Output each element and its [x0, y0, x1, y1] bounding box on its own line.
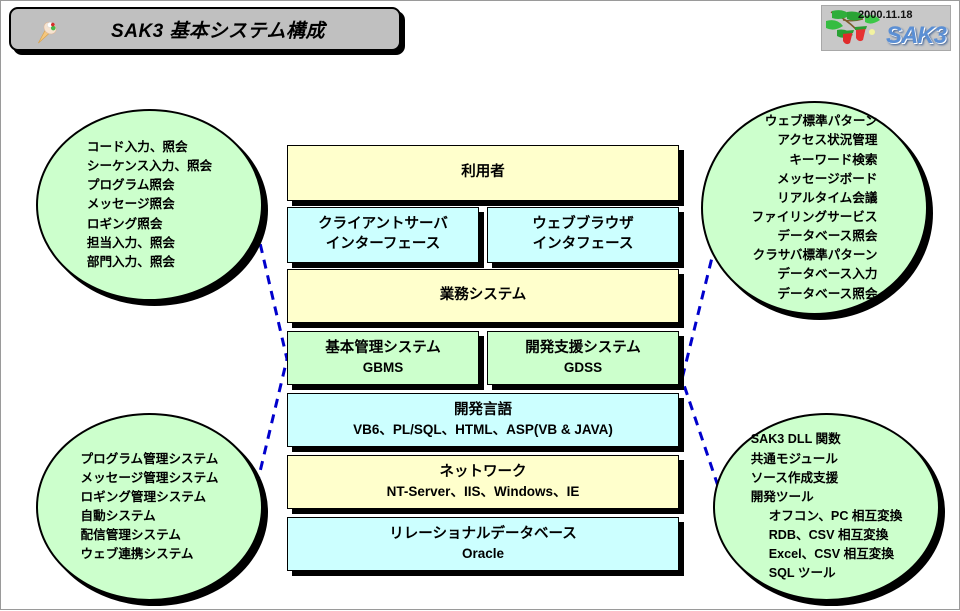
page-title-plate: SAK3 基本システム構成 [9, 7, 401, 51]
logo-date: 2000.11.18 [858, 9, 912, 21]
list-item: シーケンス入力、照会 [87, 157, 212, 176]
list-item: 配信管理システム [81, 526, 219, 545]
stack-box-web-browser-interface-line2: インタフェース [533, 235, 634, 255]
list-item: メッセージ管理システム [81, 469, 219, 488]
stack-box-web-browser-interface[interactable]: ウェブブラウザ インタフェース [487, 207, 679, 263]
bubble-web-functions-list: ウェブ標準パターン アクセス状況管理 キーワード検索 メッセージボード リアルタ… [752, 112, 878, 303]
list-item: ウェブ連携システム [81, 545, 219, 564]
stack-box-users[interactable]: 利用者 [287, 145, 679, 201]
stack-box-business-system-line1: 業務システム [440, 286, 527, 306]
list-item: 部門入力、照会 [87, 253, 212, 272]
stack-box-gbms-line1: 基本管理システム [325, 339, 441, 359]
list-item: SAK3 DLL 関数 [751, 430, 903, 449]
stack-box-client-server-interface[interactable]: クライアントサーバ インターフェース [287, 207, 479, 263]
list-item: データベース入力 [752, 265, 878, 284]
stack-box-relational-database[interactable]: リレーショナルデータベース Oracle [287, 517, 679, 571]
list-item: メッセージ照会 [87, 195, 212, 214]
list-item: RDB、CSV 相互変換 [751, 526, 903, 545]
sak3-logo: 2000.11.18 SAK3 [821, 5, 951, 51]
stack-box-development-language[interactable]: 開発言語 VB6、PL/SQL、HTML、ASP(VB & JAVA) [287, 393, 679, 447]
list-item: ロギング管理システム [81, 488, 219, 507]
diagram-canvas: SAK3 基本システム構成 2000.11.18 SAK3 利用者 [0, 0, 960, 610]
stack-box-network-line1: ネットワーク [440, 463, 527, 483]
stack-box-development-language-line2: VB6、PL/SQL、HTML、ASP(VB & JAVA) [353, 421, 613, 439]
list-item: Excel、CSV 相互変換 [751, 545, 903, 564]
list-item: コード入力、照会 [87, 138, 212, 157]
bubble-management-subsystems-list: プログラム管理システム メッセージ管理システム ロギング管理システム 自動システ… [81, 450, 219, 565]
list-item: リアルタイム会議 [752, 189, 878, 208]
list-item: クラサバ標準パターン [752, 246, 878, 265]
stack-box-gbms[interactable]: 基本管理システム GBMS [287, 331, 479, 385]
list-item: 自動システム [81, 507, 219, 526]
list-item: プログラム管理システム [81, 450, 219, 469]
stack-box-users-line1: 利用者 [461, 163, 505, 183]
stack-box-client-server-interface-line2: インターフェース [326, 235, 440, 255]
list-item: ファイリングサービス [752, 208, 878, 227]
list-item: 開発ツール [751, 488, 903, 507]
stack-box-client-server-interface-line1: クライアントサーバ [318, 215, 448, 235]
list-item: メッセージボード [752, 170, 878, 189]
list-item: ロギング照会 [87, 215, 212, 234]
stack-box-business-system[interactable]: 業務システム [287, 269, 679, 323]
bubble-development-support-tools-list: SAK3 DLL 関数 共通モジュール ソース作成支援 開発ツール オフコン、P… [751, 430, 903, 583]
stack-box-relational-database-line2: Oracle [462, 545, 504, 563]
bubble-management-subsystems[interactable]: プログラム管理システム メッセージ管理システム ロギング管理システム 自動システ… [36, 413, 263, 601]
stack-box-gdss[interactable]: 開発支援システム GDSS [487, 331, 679, 385]
stack-box-web-browser-interface-line1: ウェブブラウザ [532, 215, 634, 235]
list-item: プログラム照会 [87, 176, 212, 195]
list-item: オフコン、PC 相互変換 [751, 507, 903, 526]
stack-box-network[interactable]: ネットワーク NT-Server、IIS、Windows、IE [287, 455, 679, 509]
bubble-development-support-tools[interactable]: SAK3 DLL 関数 共通モジュール ソース作成支援 開発ツール オフコン、P… [713, 413, 940, 601]
list-item: データベース照会 [752, 285, 878, 304]
list-item: キーワード検索 [752, 151, 878, 170]
connector-top-left [253, 213, 287, 359]
stack-box-gdss-line1: 開発支援システム [525, 339, 641, 359]
list-item: 共通モジュール [751, 450, 903, 469]
page-title: SAK3 基本システム構成 [11, 16, 399, 43]
list-item: 担当入力、照会 [87, 234, 212, 253]
list-item: データベース照会 [752, 227, 878, 246]
list-item: ソース作成支援 [751, 469, 903, 488]
logo-brand-text: SAK3 [886, 22, 946, 50]
list-item: ウェブ標準パターン [752, 112, 878, 131]
bubble-web-functions[interactable]: ウェブ標準パターン アクセス状況管理 キーワード検索 メッセージボード リアルタ… [701, 101, 928, 315]
stack-box-relational-database-line1: リレーショナルデータベース [389, 525, 576, 545]
list-item: SQL ツール [751, 564, 903, 583]
stack-box-gbms-line2: GBMS [363, 359, 404, 377]
bubble-client-server-functions[interactable]: コード入力、照会 シーケンス入力、照会 プログラム照会 メッセージ照会 ロギング… [36, 109, 263, 301]
stack-box-network-line2: NT-Server、IIS、Windows、IE [387, 483, 580, 501]
list-item: アクセス状況管理 [752, 131, 878, 150]
bubble-client-server-functions-list: コード入力、照会 シーケンス入力、照会 プログラム照会 メッセージ照会 ロギング… [87, 138, 212, 272]
ice-cream-cone-icon [25, 15, 63, 47]
stack-box-gdss-line2: GDSS [564, 359, 602, 377]
stack-box-development-language-line1: 開発言語 [454, 401, 512, 421]
